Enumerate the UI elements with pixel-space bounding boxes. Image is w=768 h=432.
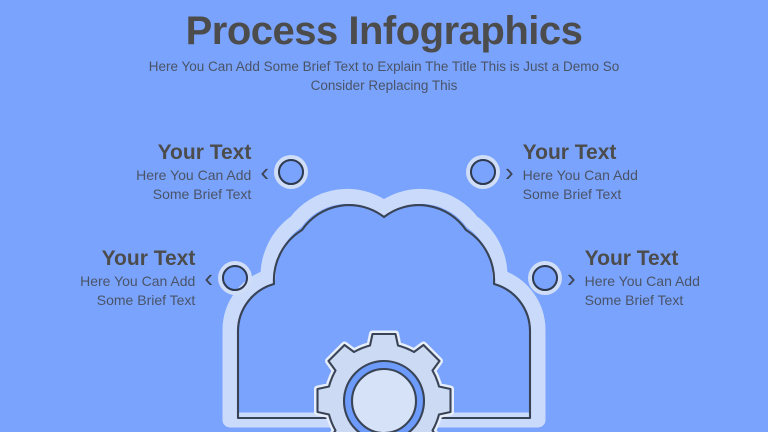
callout-item-3[interactable]: › Your Text Here You Can Add Some Brief … xyxy=(470,140,760,204)
chevron-left-icon: ‹ xyxy=(260,159,269,185)
callout-title-4: Your Text xyxy=(585,246,679,272)
callout-text-1: Your Text Here You Can Add Some Brief Te… xyxy=(136,140,251,204)
callout-text-2: Your Text Here You Can Add Some Brief Te… xyxy=(80,246,195,310)
callout-item-1[interactable]: Your Text Here You Can Add Some Brief Te… xyxy=(32,140,304,204)
chevron-left-icon: ‹ xyxy=(204,265,213,291)
callout-body-line2-2: Some Brief Text xyxy=(97,291,196,310)
gear-icon xyxy=(318,334,451,432)
callout-title-1: Your Text xyxy=(158,140,252,166)
callout-title-2: Your Text xyxy=(102,246,196,272)
chevron-right-icon: › xyxy=(505,159,514,185)
step-circle-marker-4[interactable] xyxy=(532,265,558,291)
callout-item-4[interactable]: › Your Text Here You Can Add Some Brief … xyxy=(532,246,768,310)
step-circle-marker-3[interactable] xyxy=(470,159,496,185)
step-circle-marker-1[interactable] xyxy=(278,159,304,185)
chevron-right-icon: › xyxy=(567,265,576,291)
callout-body-line1-3: Here You Can Add xyxy=(523,166,638,185)
page-subtitle: Here You Can Add Some Brief Text to Expl… xyxy=(124,57,644,95)
step-circle-marker-2[interactable] xyxy=(222,265,248,291)
page-title: Process Infographics xyxy=(0,8,768,54)
callout-body-line2-3: Some Brief Text xyxy=(523,185,622,204)
callout-body-line2-4: Some Brief Text xyxy=(585,291,684,310)
callout-body-line1-2: Here You Can Add xyxy=(80,272,195,291)
infographic-canvas: Process Infographics Here You Can Add So… xyxy=(0,0,768,432)
callout-body-line1-1: Here You Can Add xyxy=(136,166,251,185)
callout-text-4: Your Text Here You Can Add Some Brief Te… xyxy=(585,246,700,310)
callout-body-line1-4: Here You Can Add xyxy=(585,272,700,291)
callout-text-3: Your Text Here You Can Add Some Brief Te… xyxy=(523,140,638,204)
callout-item-2[interactable]: Your Text Here You Can Add Some Brief Te… xyxy=(0,246,248,310)
header: Process Infographics Here You Can Add So… xyxy=(0,8,768,95)
callout-body-line2-1: Some Brief Text xyxy=(153,185,252,204)
callout-title-3: Your Text xyxy=(523,140,617,166)
